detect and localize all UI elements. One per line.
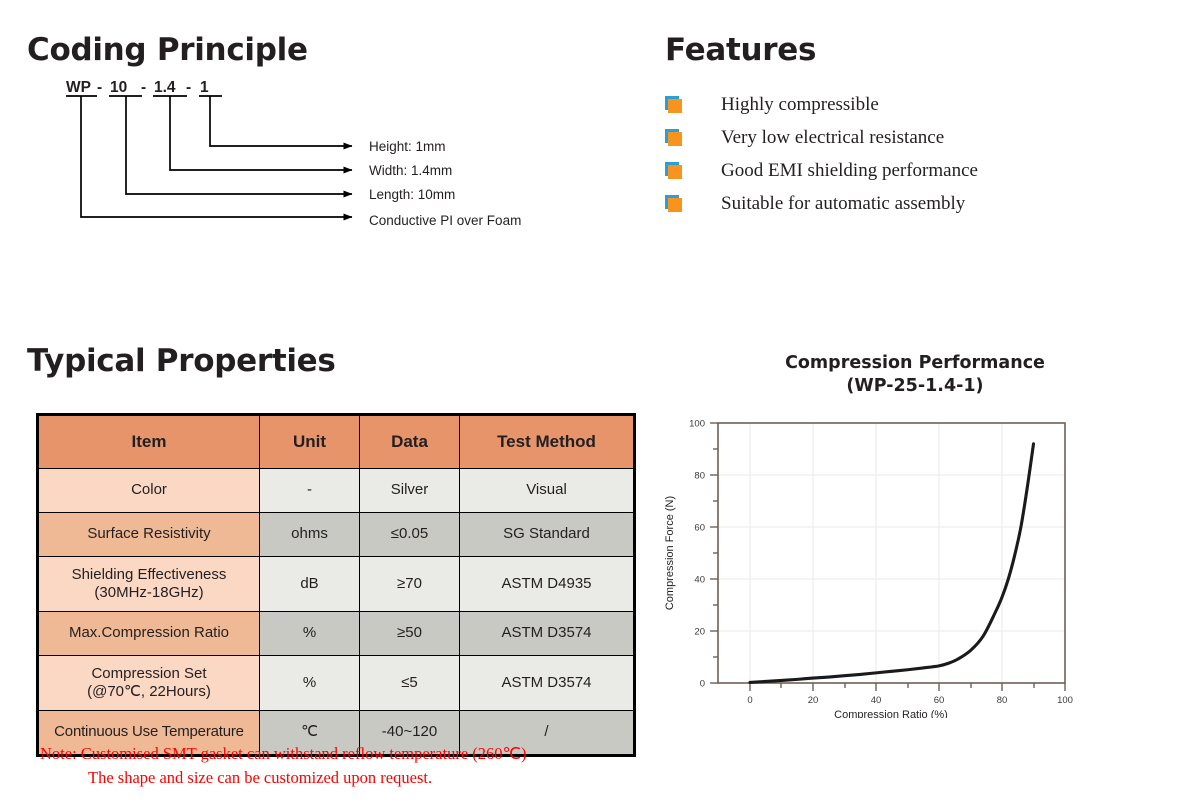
feature-label: Suitable for automatic assembly — [721, 193, 965, 215]
chart-title: Compression Performance (WP-25-1.4-1) — [705, 352, 1125, 399]
cell-item-line2: (@70℃, 22Hours) — [87, 683, 211, 700]
chart-title-sub: (WP-25-1.4-1) — [846, 376, 983, 396]
typical-properties-heading: Typical Properties — [27, 343, 336, 379]
coding-label-width: Width: 1.4mm — [369, 163, 452, 178]
feature-item: Suitable for automatic assembly — [665, 187, 1165, 220]
coding-label-material: Conductive PI over Foam — [369, 213, 521, 228]
cell-unit: dB — [260, 557, 360, 612]
table-note: Note: Customised SMT gasket can withstan… — [40, 742, 527, 790]
cell-item: Shielding Effectiveness (30MHz-18GHz) — [38, 557, 260, 612]
y-tick-label: 100 — [689, 419, 705, 430]
x-tick-label: 100 — [1057, 695, 1073, 706]
chart-x-ticks — [750, 683, 1065, 691]
table-row: Surface Resistivity ohms ≤0.05 SG Standa… — [38, 513, 635, 557]
orange-square-bullet-icon — [665, 162, 687, 180]
cell-item: Max.Compression Ratio — [38, 612, 260, 656]
cell-data: ≤0.05 — [360, 513, 460, 557]
chart-data-line — [750, 444, 1034, 683]
column-header-unit: Unit — [260, 415, 360, 469]
x-tick-label: 20 — [808, 695, 819, 706]
cell-data: ≤5 — [360, 656, 460, 711]
feature-label: Highly compressible — [721, 94, 879, 116]
cell-unit: % — [260, 612, 360, 656]
typical-properties-table: Item Unit Data Test Method Color - Silve… — [36, 413, 636, 757]
coding-label-length: Length: 10mm — [369, 187, 455, 202]
cell-item: Surface Resistivity — [38, 513, 260, 557]
compression-performance-chart: Compression Performance (WP-25-1.4-1) — [655, 352, 1175, 732]
table-row: Color - Silver Visual — [38, 469, 635, 513]
cell-data: Silver — [360, 469, 460, 513]
chart-gridlines — [718, 423, 1065, 683]
feature-label: Very low electrical resistance — [721, 127, 944, 149]
y-tick-label: 0 — [700, 679, 705, 690]
coding-principle-diagram: WP - 10 - 1.4 - 1 Height: 1mm Width: 1.4… — [0, 0, 620, 250]
cell-test-method: ASTM D4935 — [460, 557, 635, 612]
feature-label: Good EMI shielding performance — [721, 160, 978, 182]
feature-item: Very low electrical resistance — [665, 121, 1165, 154]
y-tick-label: 60 — [694, 523, 705, 534]
chart-y-axis-label: Compression Force (N) — [664, 496, 676, 610]
y-tick-label: 20 — [694, 627, 705, 638]
chart-y-ticks — [710, 423, 718, 683]
x-tick-label: 40 — [871, 695, 882, 706]
cell-unit: ohms — [260, 513, 360, 557]
chart-y-tick-labels: 100 80 60 40 20 0 — [689, 419, 705, 690]
chart-frame — [718, 423, 1065, 683]
column-header-test-method: Test Method — [460, 415, 635, 469]
cell-test-method: SG Standard — [460, 513, 635, 557]
y-tick-label: 80 — [694, 471, 705, 482]
note-line-2: The shape and size can be customized upo… — [88, 766, 527, 790]
cell-unit: - — [260, 469, 360, 513]
x-tick-label: 60 — [934, 695, 945, 706]
orange-square-bullet-icon — [665, 96, 687, 114]
orange-square-bullet-icon — [665, 195, 687, 213]
note-line-1: Note: Customised SMT gasket can withstan… — [40, 744, 527, 763]
cell-item: Compression Set (@70℃, 22Hours) — [38, 656, 260, 711]
features-list: Highly compressible Very low electrical … — [665, 88, 1165, 220]
x-tick-label: 80 — [997, 695, 1008, 706]
cell-test-method: ASTM D3574 — [460, 656, 635, 711]
cell-item-line1: Shielding Effectiveness — [72, 566, 227, 583]
cell-unit: % — [260, 656, 360, 711]
cell-item-line2: (30MHz-18GHz) — [94, 584, 203, 601]
coding-label-height: Height: 1mm — [369, 139, 446, 154]
table-row: Shielding Effectiveness (30MHz-18GHz) dB… — [38, 557, 635, 612]
cell-test-method: Visual — [460, 469, 635, 513]
chart-x-axis-label: Compression Ratio (%) — [834, 709, 948, 718]
cell-data: ≥50 — [360, 612, 460, 656]
x-tick-label: 0 — [747, 695, 752, 706]
cell-item-line1: Compression Set — [91, 665, 206, 682]
cell-data: ≥70 — [360, 557, 460, 612]
feature-item: Highly compressible — [665, 88, 1165, 121]
orange-square-bullet-icon — [665, 129, 687, 147]
y-tick-label: 40 — [694, 575, 705, 586]
cell-test-method: ASTM D3574 — [460, 612, 635, 656]
table-row: Max.Compression Ratio % ≥50 ASTM D3574 — [38, 612, 635, 656]
chart-x-tick-labels: 0 20 40 60 80 100 — [747, 695, 1073, 706]
chart-plot: 100 80 60 40 20 0 0 20 40 60 80 100 Comp… — [655, 408, 1085, 718]
column-header-item: Item — [38, 415, 260, 469]
coding-leader-lines — [0, 0, 620, 250]
chart-title-main: Compression Performance — [785, 353, 1045, 373]
feature-item: Good EMI shielding performance — [665, 154, 1165, 187]
table-row: Compression Set (@70℃, 22Hours) % ≤5 AST… — [38, 656, 635, 711]
cell-item: Color — [38, 469, 260, 513]
table-header-row: Item Unit Data Test Method — [38, 415, 635, 469]
column-header-data: Data — [360, 415, 460, 469]
features-heading: Features — [665, 32, 816, 68]
